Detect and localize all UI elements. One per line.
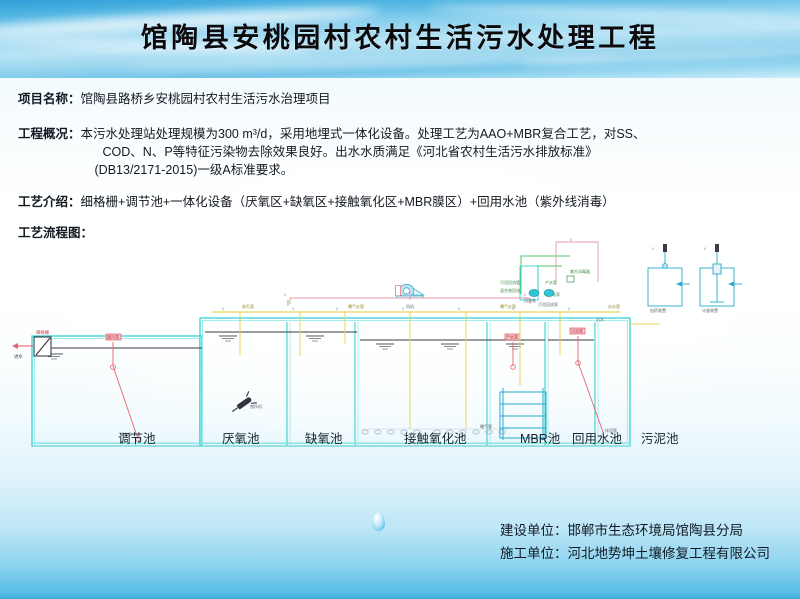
svg-text:Ⅱ: Ⅱ [704,247,706,251]
pool-label-sludge: 污泥池 [641,428,679,447]
svg-text:Ⅱ: Ⅱ [222,307,224,311]
info-row-project-name: 项目名称： 馆陶县路桥乡安桃园村农村生活污水治理项目 [0,90,800,108]
svg-text:加药装置: 加药装置 [650,307,666,313]
pool-label-anaerobic: 厌氧池 [222,428,260,447]
info-value: 本污水处理站处理规模为300 m³/d，采用地埋式一体化设备。处理工艺为AAO+… [81,125,782,179]
svg-text:产水管: 产水管 [545,279,557,285]
info-line: COD、N、P等特征污染物去除效果良好。出水水质满足《河北省农村生活污水排放标准… [81,143,782,161]
svg-text:Ⅱ: Ⅱ [568,307,570,311]
svg-text:潜污泵: 潜污泵 [107,334,119,340]
footer-line-owner: 建设单位：邯郸市生态环境局馆陶县分局 [500,519,770,542]
svg-text:污泥回流管: 污泥回流管 [500,279,520,285]
svg-text:产水泵: 产水泵 [506,334,518,340]
svg-text:Ⅱ: Ⅱ [292,307,294,311]
info-line: 本污水处理站处理规模为300 m³/d，采用地埋式一体化设备。处理工艺为AAO+… [81,125,782,143]
info-value: 馆陶县路桥乡安桃园村农村生活污水治理项目 [81,90,782,108]
info-value: 细格栅+调节池+一体化设备（厌氧区+缺氧区+接触氧化区+MBR膜区）+回用水池（… [81,193,782,211]
svg-text:Ⅱ: Ⅱ [652,247,654,251]
poster-board: 馆陶县安桃园村农村生活污水处理工程 项目名称： 馆陶县路桥乡安桃园村农村生活污水… [0,0,800,599]
footer-credits: 建设单位：邯郸市生态环境局馆陶县分局 施工单位：河北地势坤土壤修复工程有限公司 [500,519,770,565]
svg-text:进水: 进水 [14,353,23,360]
info-line: (DB13/2171-2015)一级A标准要求。 [81,161,782,179]
svg-text:Ⅱ: Ⅱ [402,307,404,311]
project-info-block: 项目名称： 馆陶县路桥乡安桃园村农村生活污水治理项目 工程概况： 本污水处理站处… [0,78,800,242]
pool-label-adjusting: 调节池 [118,428,156,447]
info-line: 细格栅+调节池+一体化设备（厌氧区+缺氧区+接触氧化区+MBR膜区）+回用水池（… [81,193,782,211]
pool-label-reuse-water: 回用水池 [572,428,622,447]
svg-text:曝气支管: 曝气支管 [348,303,364,309]
svg-text:污泥回流泵: 污泥回流泵 [538,301,558,307]
svg-text:风机: 风机 [406,303,414,309]
svg-text:混合液回流: 混合液回流 [500,287,520,293]
pool-label-anoxic: 缺氧池 [305,428,343,447]
pool-label-row: 调节池 厌氧池 缺氧池 接触氧化池 MBR池 回用水池 污泥池 [0,428,800,446]
svg-text:污泥泵: 污泥泵 [571,328,583,334]
footer-line-contractor: 施工单位：河北地势坤土壤修复工程有限公司 [500,542,770,565]
svg-text:紫外消毒器: 紫外消毒器 [570,268,590,274]
svg-text:出水: 出水 [596,316,604,322]
svg-text:Ⅱ: Ⅱ [458,307,460,311]
svg-text:细格栅: 细格栅 [36,329,50,336]
svg-text:Ⅱ: Ⅱ [570,238,572,242]
info-label: 项目名称： [18,90,81,108]
svg-text:回流泵: 回流泵 [524,297,536,303]
info-line: 馆陶县路桥乡安桃园村农村生活污水治理项目 [81,90,782,108]
svg-text:Ⅱ: Ⅱ [524,293,526,297]
header-banner: 馆陶县安桃园村农村生活污水处理工程 [0,0,800,78]
pool-label-contact-oxidation: 接触氧化池 [404,428,467,447]
svg-text:Ⅱ: Ⅱ [336,307,338,311]
svg-text:计量装置: 计量装置 [702,307,718,313]
svg-text:Ⅱ: Ⅱ [284,293,286,297]
info-row-process: 工艺介绍： 细格栅+调节池+一体化设备（厌氧区+缺氧区+接触氧化区+MBR膜区）… [0,193,800,211]
process-flow-diagram: 细格栅 进水 潜污泵 提升泵 搅拌机 [0,236,800,448]
info-label: 工程概况： [18,125,81,143]
water-droplet-icon [372,512,385,531]
svg-text:搅拌机: 搅拌机 [250,403,262,409]
process-flow-svg: 细格栅 进水 潜污泵 提升泵 搅拌机 [0,236,800,448]
info-row-overview: 工程概况： 本污水处理站处理规模为300 m³/d，采用地埋式一体化设备。处理工… [0,125,800,179]
svg-text:出水管: 出水管 [608,303,620,309]
info-label: 工艺介绍： [18,193,81,211]
pool-label-mbr: MBR池 [520,428,560,447]
page-title: 馆陶县安桃园村农村生活污水处理工程 [0,16,800,55]
svg-text:穿孔管: 穿孔管 [242,303,254,309]
